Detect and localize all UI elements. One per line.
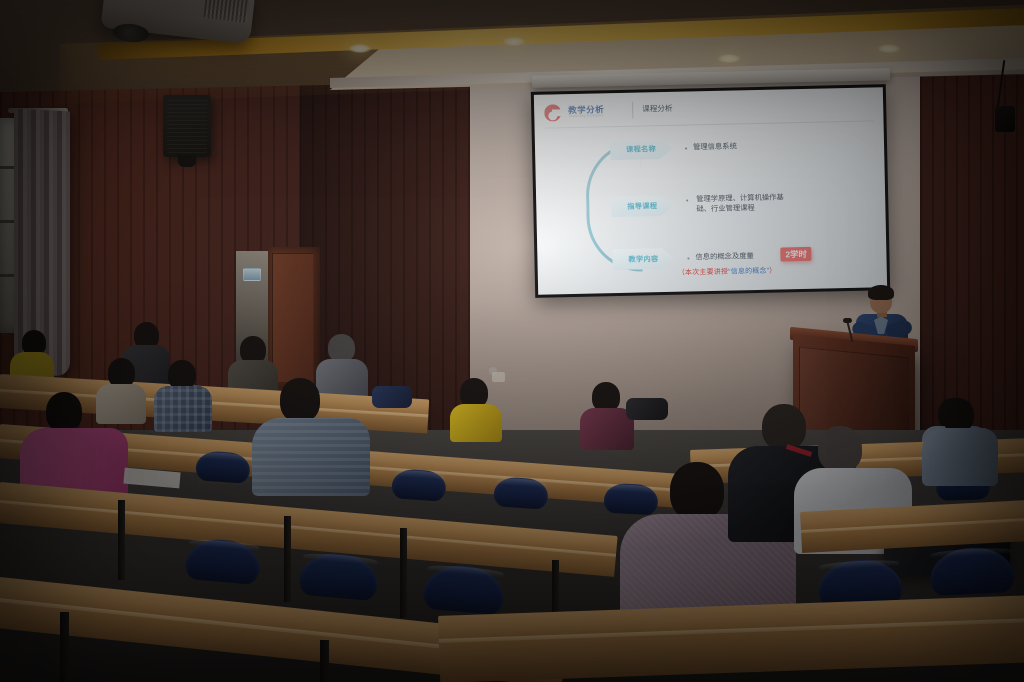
- auditorium-chair[interactable]: [391, 468, 447, 502]
- slide-chip-prerequisite: 指导课程: [611, 195, 673, 217]
- presenter-hair: [868, 285, 894, 300]
- auditorium-chair[interactable]: [603, 483, 658, 516]
- chip-label: 课程名称: [610, 138, 672, 160]
- microphone-icon: [843, 318, 852, 323]
- slide-bullet: 管理信息系统: [693, 141, 737, 153]
- auditorium-chair[interactable]: [298, 551, 380, 602]
- auditorium-chair[interactable]: [929, 546, 1015, 596]
- auditorium-chair[interactable]: [195, 450, 251, 484]
- chip-label: 教学内容: [612, 248, 674, 270]
- desk-leg: [118, 500, 125, 580]
- speaker-icon: [995, 106, 1015, 132]
- note-suffix: ）: [769, 268, 776, 275]
- desk-leg: [400, 528, 407, 618]
- head: [942, 398, 974, 432]
- slide-header-right: 课程分析: [642, 103, 673, 115]
- head: [762, 404, 806, 450]
- torso: [450, 404, 502, 442]
- desk-leg: [60, 612, 69, 682]
- projection-screen: 教学分析 Teaching Analysis 课程分析 课程名称 管理信息系统 …: [531, 84, 890, 298]
- bullet-dot: [687, 257, 689, 259]
- bullet-dot: [685, 148, 687, 150]
- head: [280, 378, 320, 422]
- wall-switch[interactable]: [492, 372, 505, 382]
- hours-badge: 2学时: [780, 247, 812, 262]
- door-leaf: [272, 253, 314, 383]
- speaker-icon: [163, 95, 211, 157]
- torso: [154, 386, 212, 432]
- note-prefix: （本次主要讲授: [678, 269, 729, 277]
- downlight-icon: [349, 44, 371, 53]
- head: [670, 462, 724, 520]
- bullet-dot: [686, 199, 688, 201]
- slide-header-subtitle: Teaching Analysis: [568, 113, 603, 118]
- auditorium-chair[interactable]: [422, 563, 506, 616]
- slide-bullet: 础、行业管理课程: [696, 203, 755, 215]
- auditorium-chair[interactable]: [493, 476, 549, 510]
- slide-note: （本次主要讲授“信息的概念”）: [678, 266, 777, 278]
- projector-vent: [203, 0, 250, 23]
- slide-chip-course-name: 课程名称: [610, 138, 672, 160]
- auditorium-chair[interactable]: [184, 537, 261, 585]
- speaker-bracket: [178, 155, 196, 167]
- head: [818, 426, 862, 472]
- head: [46, 392, 82, 432]
- torso: [922, 428, 998, 486]
- header-divider: [632, 102, 633, 119]
- desk-leg: [284, 516, 291, 602]
- downlight-icon: [503, 37, 525, 46]
- desk-leg: [320, 640, 329, 682]
- head: [328, 334, 355, 362]
- downlight-icon: [718, 54, 740, 63]
- wall-control-plate[interactable]: [243, 268, 261, 281]
- torso: [96, 384, 146, 424]
- torso: [252, 418, 370, 496]
- slide-chip-content: 教学内容: [612, 248, 674, 270]
- lecture-hall-photo: 教学分析 Teaching Analysis 课程分析 课程名称 管理信息系统 …: [0, 0, 1024, 682]
- downlight-icon: [878, 44, 900, 53]
- backpack: [372, 386, 412, 408]
- backpack: [626, 398, 668, 420]
- slide-bullet: 信息的概念及度量: [695, 251, 754, 263]
- note-quoted: “信息的概念”: [728, 268, 769, 276]
- chip-label: 指导课程: [611, 195, 673, 217]
